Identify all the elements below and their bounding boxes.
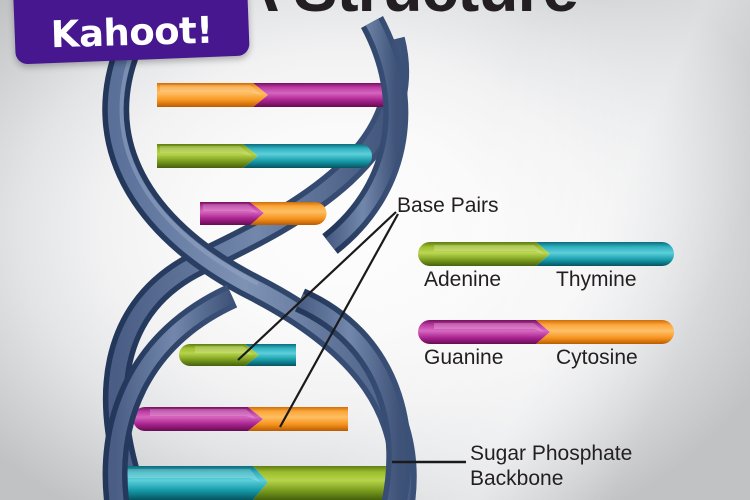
kahoot-logo-badge[interactable]: Kahoot! — [12, 0, 250, 64]
legend-bar-guanine-cytosine — [418, 320, 674, 344]
legend-label-guanine: Guanine — [424, 346, 503, 370]
kahoot-wordmark: Kahoot! — [50, 9, 213, 57]
base-pair-rung-4 — [179, 344, 296, 366]
base-pair-rung-2 — [157, 144, 372, 168]
annotation-sugar-phosphate-backbone: Sugar Phosphate Backbone — [470, 442, 632, 492]
base-pair-rung-6 — [103, 466, 392, 500]
legend-bar-adenine-thymine — [418, 242, 674, 266]
base-pair-rung-3 — [200, 202, 327, 225]
annotation-backbone-line1: Sugar Phosphate — [470, 442, 632, 467]
annotation-backbone-line2: Backbone — [470, 467, 632, 492]
annotation-base-pairs: Base Pairs — [397, 194, 499, 219]
base-pair-rung-5 — [133, 407, 348, 431]
legend-label-thymine: Thymine — [556, 268, 637, 292]
legend-label-adenine: Adenine — [424, 268, 501, 292]
backbone-strand-upper-right — [330, 22, 396, 244]
slide-canvas: A Structure — [0, 0, 750, 500]
base-pair-rung-1 — [157, 83, 400, 107]
legend-label-cytosine: Cytosine — [556, 346, 638, 370]
